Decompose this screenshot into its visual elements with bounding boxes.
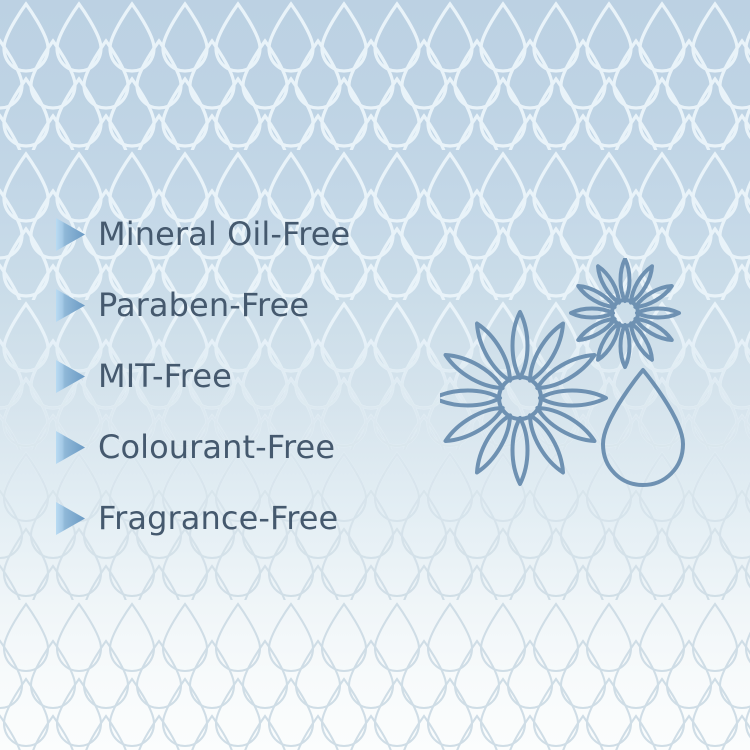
list-item: Mineral Oil-Free <box>56 212 350 256</box>
small-flower-icon <box>571 259 679 367</box>
triangle-arrow-right-icon <box>56 218 85 251</box>
feature-label: MIT-Free <box>98 360 232 392</box>
feature-label: Colourant-Free <box>98 431 335 463</box>
triangle-arrow-right-icon <box>56 431 85 464</box>
triangle-arrow-right-icon <box>56 502 85 535</box>
water-drop-icon <box>603 370 683 485</box>
feature-label: Paraben-Free <box>98 289 309 321</box>
triangle-arrow-right-icon <box>56 289 85 322</box>
list-item: MIT-Free <box>56 354 232 398</box>
promo-banner: Mineral Oil-Free Paraben-Free <box>0 0 750 750</box>
feature-label: Fragrance-Free <box>98 502 338 534</box>
floral-decoration <box>440 258 705 493</box>
triangle-arrow-right-icon <box>56 360 85 393</box>
feature-label: Mineral Oil-Free <box>98 218 350 250</box>
list-item: Fragrance-Free <box>56 496 338 540</box>
list-item: Colourant-Free <box>56 425 335 469</box>
list-item: Paraben-Free <box>56 283 309 327</box>
